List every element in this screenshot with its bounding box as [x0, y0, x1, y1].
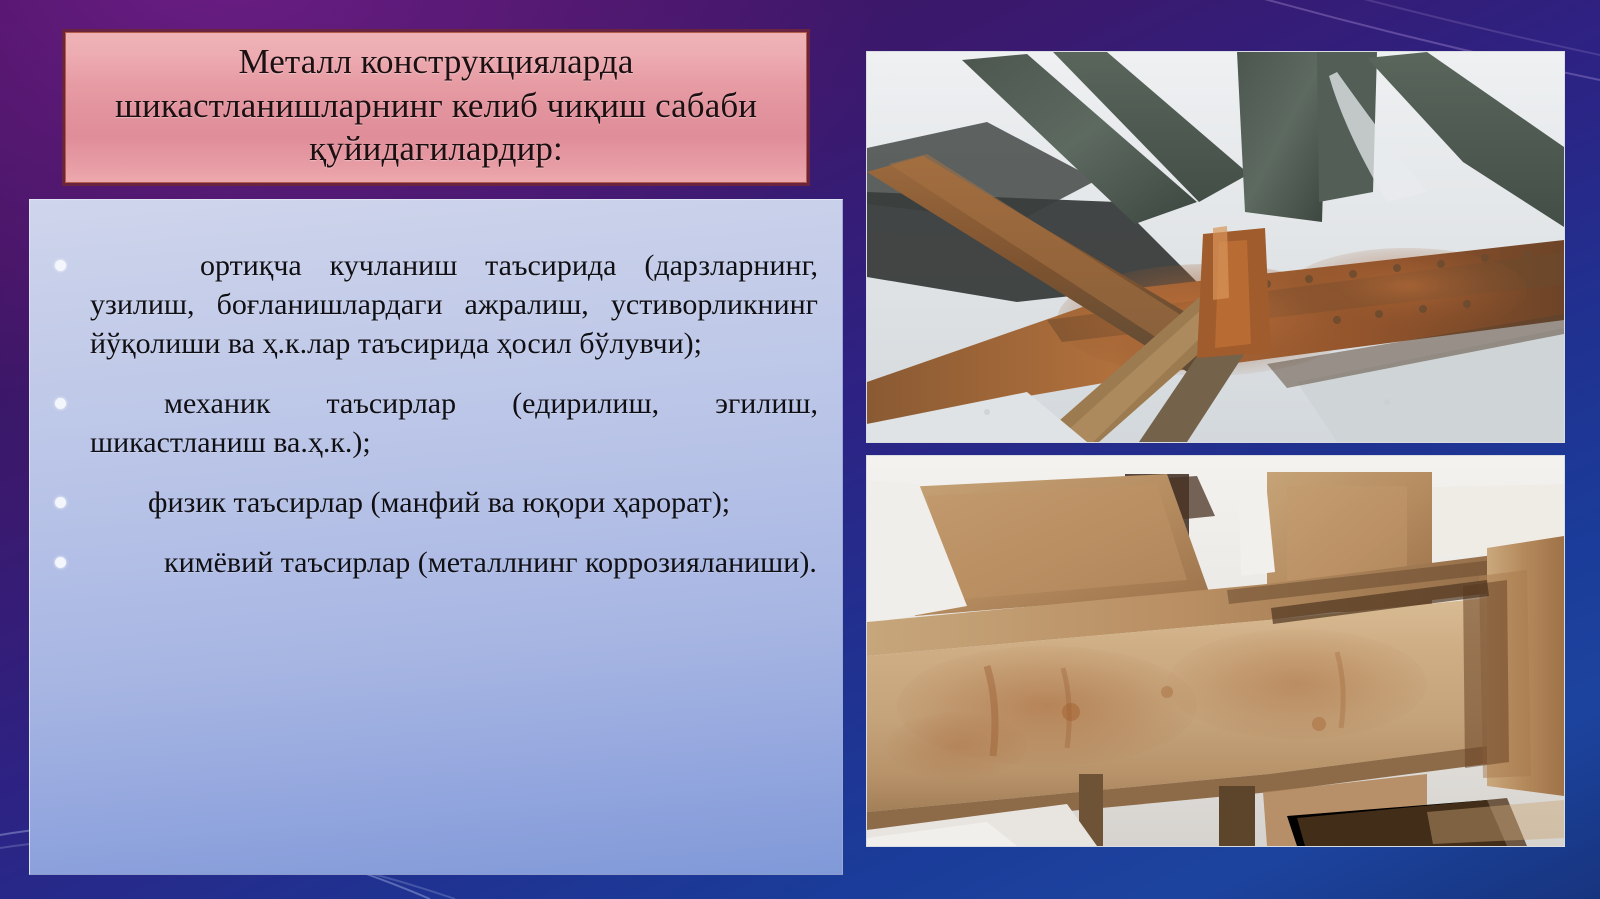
- list-item-text: кимёвий таъсирлар (металлнинг коррозияла…: [164, 546, 817, 579]
- bullet-list: ортиқча кучланиш таъсирида (дарзларнинг,…: [42, 246, 818, 582]
- list-item-text: ортиқча кучланиш таъсирида (дарзларнинг,…: [90, 249, 818, 360]
- bullet-dot-icon: [55, 398, 66, 409]
- bullet-dot-icon: [55, 260, 66, 271]
- presentation-slide: Металл конструкцияларда шикастланишларни…: [0, 0, 1600, 899]
- list-item: физик таъсирлар (манфий ва юқори ҳарорат…: [42, 483, 818, 522]
- list-item: механик таъсирлар (едирилиш, эгилиш, шик…: [42, 384, 818, 462]
- rusted-steel-truss-joint-photo: [866, 51, 1565, 443]
- slide-title: Металл конструкцияларда шикастланишларни…: [79, 40, 793, 170]
- list-item: ортиқча кучланиш таъсирида (дарзларнинг,…: [42, 246, 818, 363]
- slide-title-box: Металл конструкцияларда шикастланишларни…: [62, 29, 810, 186]
- list-item-text: физик таъсирлар (манфий ва юқори ҳарорат…: [148, 486, 730, 519]
- corroded-steel-beam-photo: [866, 455, 1565, 847]
- list-item-text: механик таъсирлар (едирилиш, эгилиш, шик…: [90, 387, 818, 459]
- list-item: кимёвий таъсирлар (металлнинг коррозияла…: [42, 543, 818, 582]
- bullet-dot-icon: [55, 557, 66, 568]
- slide-content-box: ортиқча кучланиш таъсирида (дарзларнинг,…: [29, 199, 843, 875]
- bullet-dot-icon: [55, 497, 66, 508]
